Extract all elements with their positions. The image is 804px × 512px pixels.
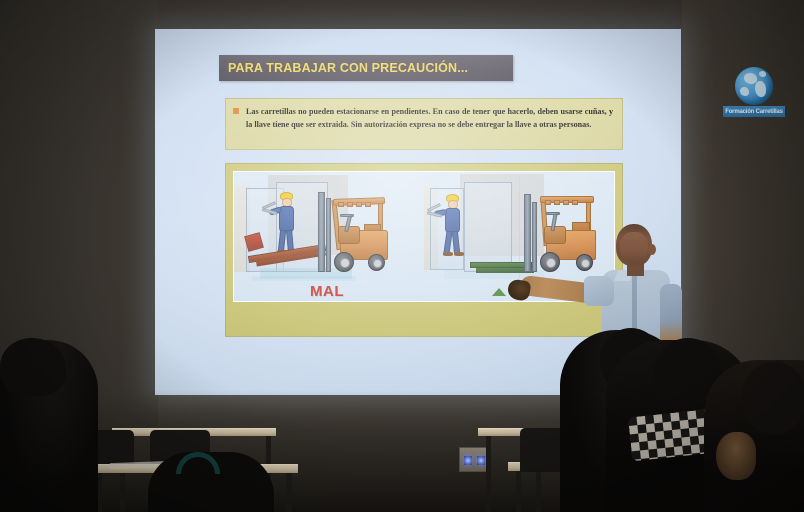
classroom-scene: PARA TRABAJAR CON PRECAUCIÓN... Formació… — [0, 0, 804, 512]
socket-led-right — [477, 456, 485, 465]
brand-logo: Formación Carretillas — [723, 67, 785, 119]
slide-title: PARA TRABAJAR CON PRECAUCIÓN... — [228, 61, 468, 75]
audience-person-5-head — [742, 362, 804, 434]
slide-title-bar: PARA TRABAJAR CON PRECAUCIÓN... — [219, 55, 513, 81]
label-mal: MAL — [310, 283, 344, 300]
wall-socket[interactable] — [459, 447, 489, 472]
up-arrow-icon — [492, 288, 506, 296]
slide-body-box: Las carretillas no pueden estacionarse e… — [225, 98, 623, 150]
bullet-square-icon — [233, 108, 239, 114]
socket-led-left — [464, 456, 472, 465]
illustration-left-mal: MAL — [234, 172, 424, 301]
slide-body-text: Las carretillas no pueden estacionarse e… — [246, 105, 613, 145]
logo-caption: Formación Carretillas — [723, 106, 785, 117]
globe-icon — [735, 67, 773, 105]
audience-person-5-hand — [716, 432, 756, 480]
audience-person-1-hair — [0, 338, 66, 396]
presenter-sleeve — [584, 276, 614, 306]
presenter-face — [620, 232, 648, 264]
presenter-ear — [648, 244, 656, 255]
